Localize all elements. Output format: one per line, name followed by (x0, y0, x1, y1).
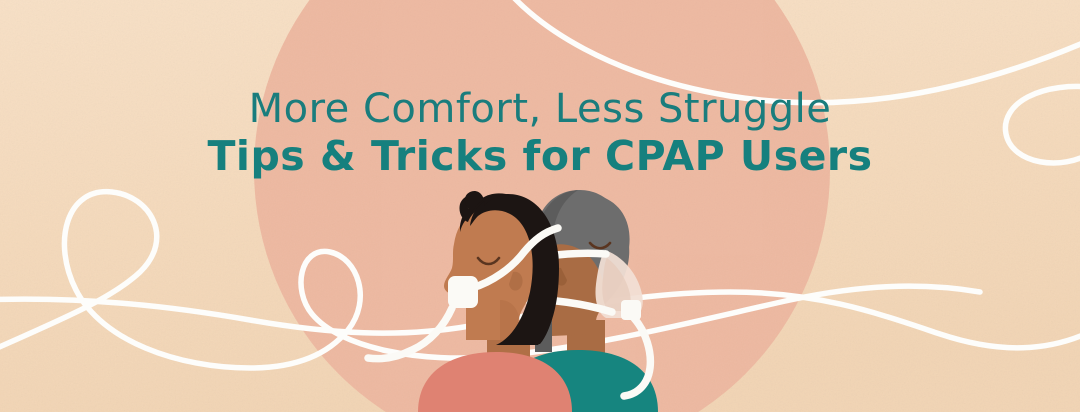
headline-line-1: More Comfort, Less Struggle (249, 86, 832, 132)
headline-line-2: Tips & Tricks for CPAP Users (207, 132, 872, 180)
banner-illustration: More Comfort, Less Struggle Tips & Trick… (0, 0, 1080, 412)
cpap-tips-banner: More Comfort, Less Struggle Tips & Trick… (0, 0, 1080, 412)
figure-left-mask (448, 276, 478, 308)
